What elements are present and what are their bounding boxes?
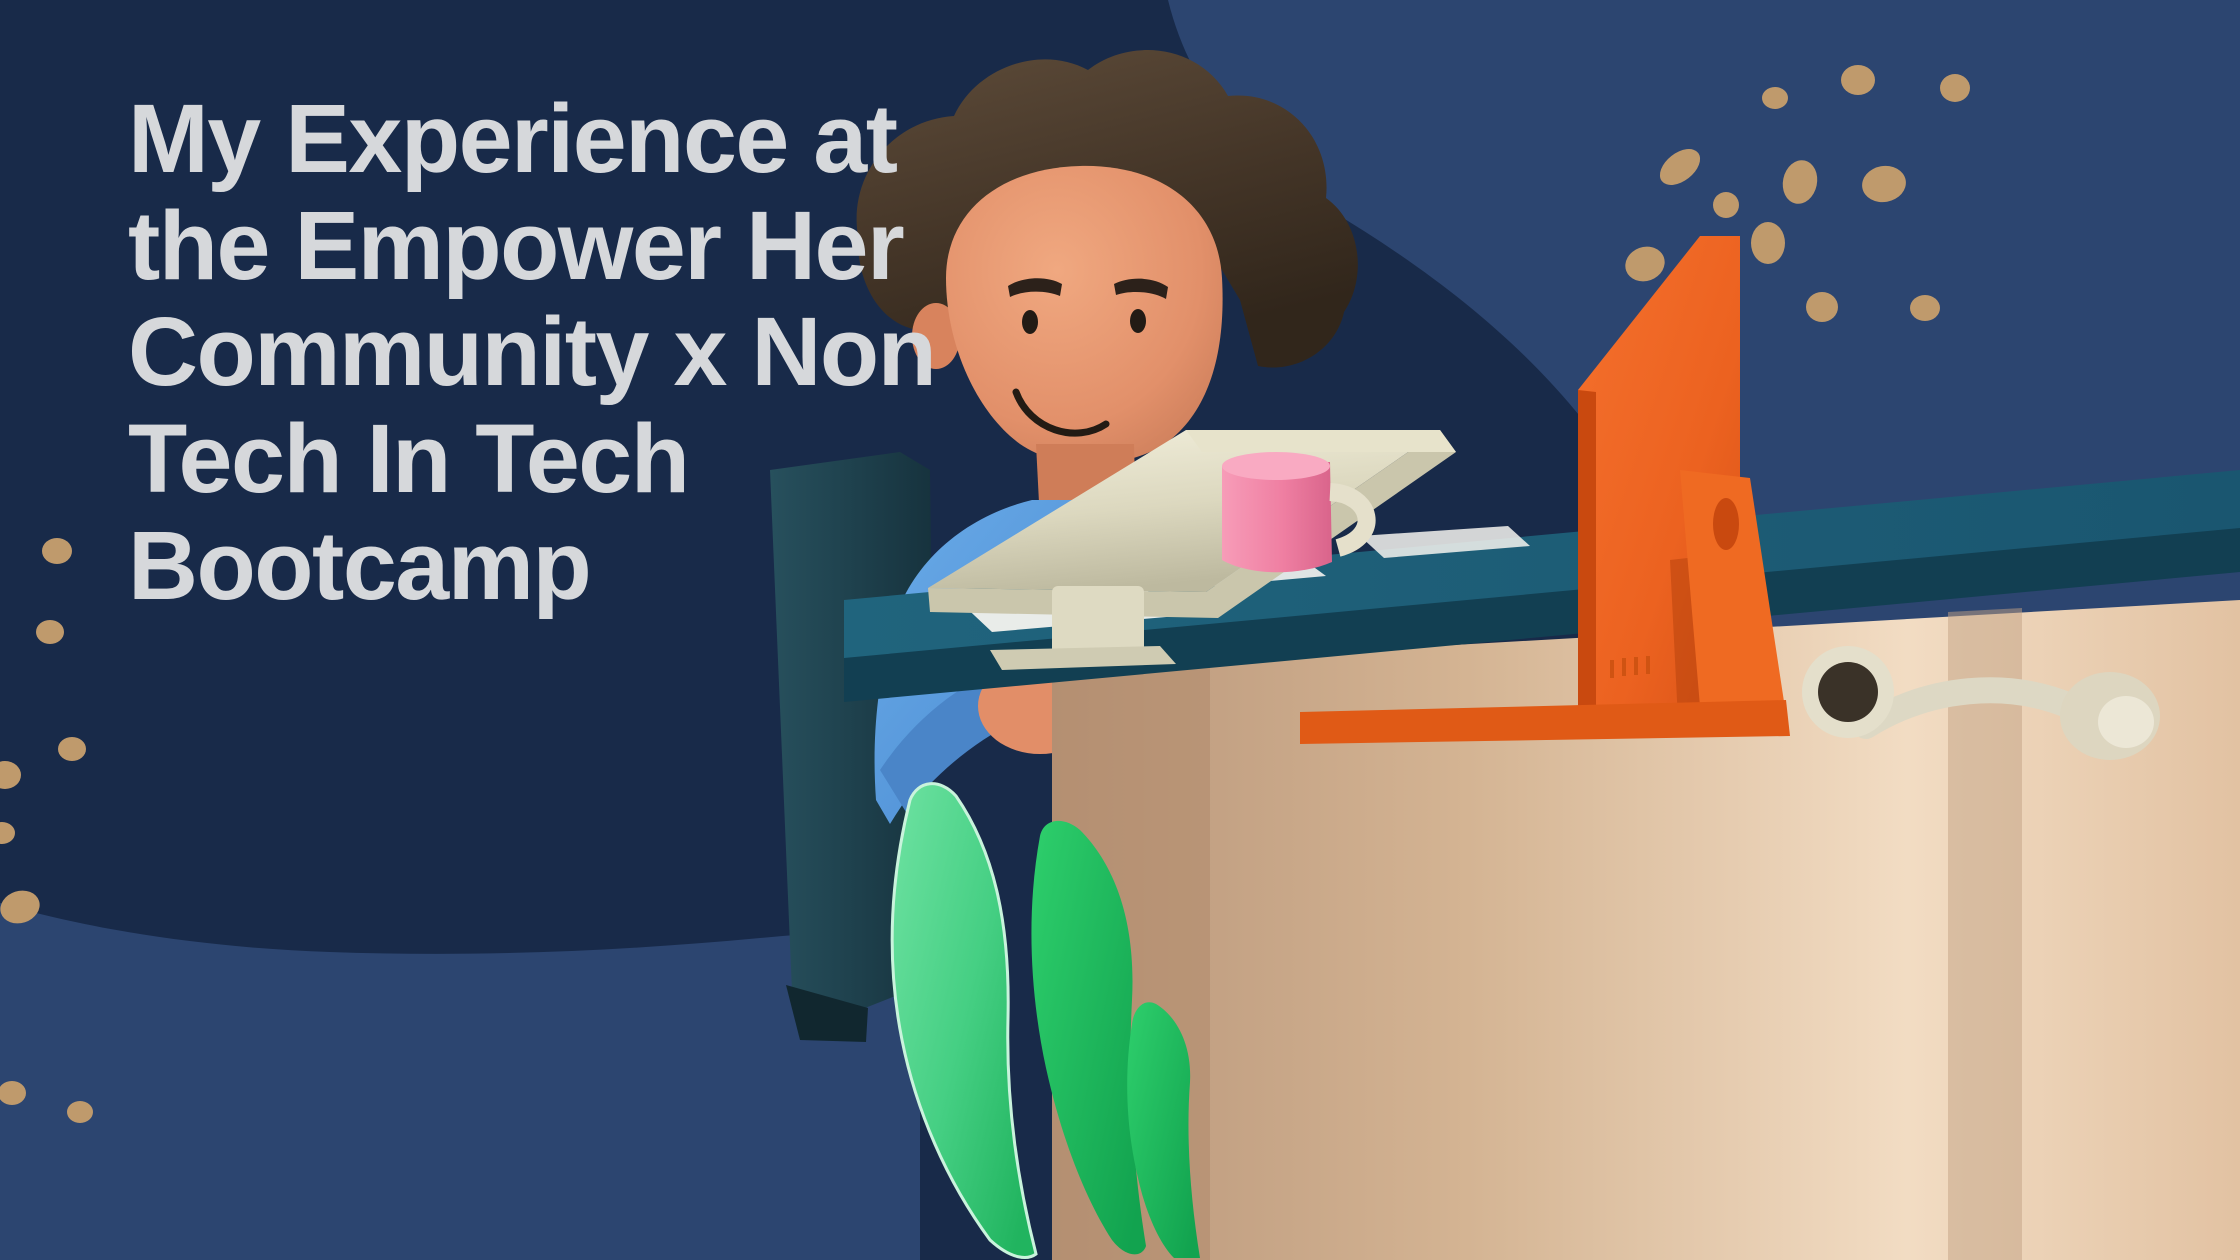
- dot-icon: [42, 538, 72, 564]
- eye-left: [1022, 310, 1038, 334]
- page-title: My Experience at the Empower Her Communi…: [128, 86, 1008, 619]
- dot-icon: [36, 620, 64, 644]
- dot-icon: [67, 1101, 93, 1123]
- tablet-bezel: [1186, 430, 1456, 452]
- eye-right: [1130, 309, 1146, 333]
- monitor-edge: [1578, 390, 1596, 732]
- headphone-pad-left: [1818, 662, 1878, 722]
- plant-leaf-large: [892, 784, 1036, 1258]
- banner-root: My Experience at the Empower Her Communi…: [0, 0, 2240, 1260]
- monitor-stand-hole: [1713, 498, 1739, 550]
- dot-icon: [58, 737, 86, 761]
- headphone-pad-right: [2098, 696, 2154, 748]
